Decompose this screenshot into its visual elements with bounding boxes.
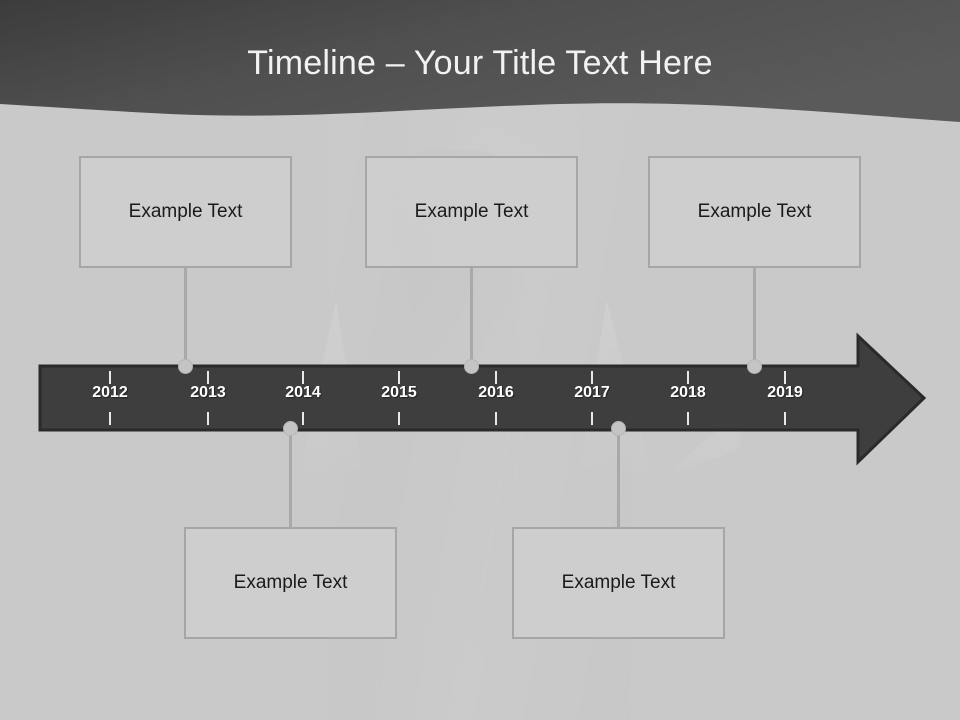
year-label-2018: 2018 (658, 384, 718, 402)
tick-top-2015 (398, 371, 400, 384)
year-label-2015: 2015 (369, 384, 429, 402)
tick-top-2018 (687, 371, 689, 384)
tick-bottom-2017 (591, 412, 593, 425)
event-box-4-label: Example Text (234, 572, 348, 594)
event-box-2[interactable]: Example Text (365, 156, 578, 268)
tick-bottom-2013 (207, 412, 209, 425)
timeline-slide: Timeline – Your Title Text Here 2012 201… (0, 0, 960, 720)
event-box-4[interactable]: Example Text (184, 527, 397, 639)
page-title: Timeline – Your Title Text Here (0, 44, 960, 83)
year-label-2012: 2012 (80, 384, 140, 402)
tick-bottom-2015 (398, 412, 400, 425)
event-box-1-label: Example Text (129, 201, 243, 223)
year-label-2019: 2019 (755, 384, 815, 402)
event-box-2-label: Example Text (415, 201, 529, 223)
event-box-5-label: Example Text (562, 572, 676, 594)
year-label-2016: 2016 (466, 384, 526, 402)
connector-event-5 (617, 428, 620, 527)
tick-top-2016 (495, 371, 497, 384)
year-label-2017: 2017 (562, 384, 622, 402)
connector-dot-event-5 (611, 421, 626, 436)
tick-top-2013 (207, 371, 209, 384)
connector-event-4 (289, 428, 292, 527)
connector-dot-event-3 (747, 359, 762, 374)
connector-dot-event-1 (178, 359, 193, 374)
event-box-3[interactable]: Example Text (648, 156, 861, 268)
year-label-2014: 2014 (273, 384, 333, 402)
tick-top-2017 (591, 371, 593, 384)
event-box-1[interactable]: Example Text (79, 156, 292, 268)
tick-top-2014 (302, 371, 304, 384)
tick-bottom-2014 (302, 412, 304, 425)
tick-bottom-2019 (784, 412, 786, 425)
event-box-3-label: Example Text (698, 201, 812, 223)
connector-dot-event-4 (283, 421, 298, 436)
tick-bottom-2016 (495, 412, 497, 425)
connector-event-1 (184, 268, 187, 366)
connector-event-3 (753, 268, 756, 366)
event-box-5[interactable]: Example Text (512, 527, 725, 639)
tick-bottom-2012 (109, 412, 111, 425)
connector-dot-event-2 (464, 359, 479, 374)
connector-event-2 (470, 268, 473, 366)
tick-top-2019 (784, 371, 786, 384)
tick-top-2012 (109, 371, 111, 384)
year-label-2013: 2013 (178, 384, 238, 402)
tick-bottom-2018 (687, 412, 689, 425)
